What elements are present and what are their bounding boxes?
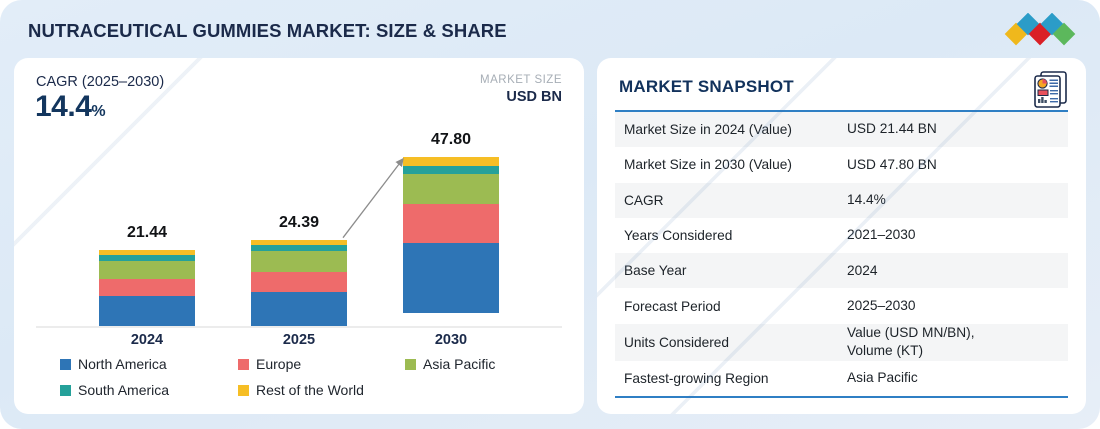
bar-segment — [99, 279, 195, 296]
cagr-number: 14.4 — [35, 90, 91, 123]
legend-item-europe[interactable]: Europe — [238, 356, 301, 372]
table-cell-value: 2024 — [847, 262, 1068, 280]
x-axis-line — [36, 326, 562, 328]
legend-swatch-icon — [238, 385, 249, 396]
bar-segment — [251, 272, 347, 292]
bar-value-label: 21.44 — [77, 224, 217, 242]
table-cell-value: 14.4% — [847, 191, 1068, 209]
table-cell-key: Years Considered — [615, 228, 847, 243]
bar-segment — [403, 243, 499, 313]
table-row: Units ConsideredValue (USD MN/BN),Volume… — [615, 324, 1068, 361]
snapshot-table: Market Size in 2024 (Value)USD 21.44 BNM… — [615, 110, 1068, 398]
legend-item-north-america[interactable]: North America — [60, 356, 167, 372]
report-document-icon — [1032, 70, 1068, 108]
market-size-label: MARKET SIZE — [480, 74, 562, 86]
table-row: Market Size in 2024 (Value)USD 21.44 BN — [615, 112, 1068, 147]
x-axis-labels: 202420252030 — [36, 332, 562, 352]
table-cell-key: Market Size in 2024 (Value) — [615, 122, 847, 137]
legend-swatch-icon — [405, 359, 416, 370]
bar-segment — [251, 251, 347, 272]
table-cell-value: USD 47.80 BN — [847, 156, 1068, 174]
legend-swatch-icon — [60, 385, 71, 396]
bar-segment — [403, 166, 499, 174]
market-size-unit: USD BN — [506, 89, 562, 105]
table-row: Base Year2024 — [615, 253, 1068, 288]
table-cell-key: Base Year — [615, 263, 847, 278]
table-cell-value: USD 21.44 BN — [847, 120, 1068, 138]
x-axis-label-2030: 2030 — [381, 332, 521, 348]
cagr-value: 14.4% — [35, 90, 105, 124]
table-cell-key: Forecast Period — [615, 299, 847, 314]
table-row: Years Considered2021–2030 — [615, 218, 1068, 253]
table-cell-key: CAGR — [615, 193, 847, 208]
header: NUTRACEUTICAL GUMMIES MARKET: SIZE & SHA… — [0, 0, 1100, 58]
bar-segment — [99, 296, 195, 325]
legend-label: South America — [78, 382, 169, 398]
legend-row: North AmericaEuropeAsia Pacific — [60, 356, 570, 382]
table-row: Forecast Period2025–2030 — [615, 288, 1068, 323]
legend-swatch-icon — [60, 359, 71, 370]
table-cell-value: 2021–2030 — [847, 226, 1068, 244]
stacked-bar-2030 — [403, 157, 499, 326]
snapshot-title: MARKET SNAPSHOT — [619, 77, 794, 97]
bar-segment — [99, 261, 195, 279]
bar-segment — [403, 157, 499, 166]
legend-item-rest-of-the-world[interactable]: Rest of the World — [238, 382, 364, 398]
cagr-label: CAGR (2025–2030) — [36, 74, 164, 90]
bar-segment — [403, 174, 499, 205]
diamond-logo — [1004, 13, 1082, 47]
table-row: Market Size in 2030 (Value)USD 47.80 BN — [615, 147, 1068, 182]
stacked-bar-chart: 21.4424.3947.80 — [36, 120, 562, 328]
legend-label: Asia Pacific — [423, 356, 495, 372]
bar-value-label: 47.80 — [381, 131, 521, 149]
table-cell-value: Asia Pacific — [847, 369, 1068, 387]
legend-swatch-icon — [238, 359, 249, 370]
chart-legend: North AmericaEuropeAsia PacificSouth Ame… — [60, 356, 570, 408]
page-title: NUTRACEUTICAL GUMMIES MARKET: SIZE & SHA… — [28, 20, 507, 42]
table-cell-key: Fastest-growing Region — [615, 371, 847, 386]
legend-row: South AmericaRest of the World — [60, 382, 570, 408]
x-axis-label-2025: 2025 — [229, 332, 369, 348]
x-axis-label-2024: 2024 — [77, 332, 217, 348]
table-cell-key: Market Size in 2030 (Value) — [615, 157, 847, 172]
table-cell-value: 2025–2030 — [847, 297, 1068, 315]
infographic-root: NUTRACEUTICAL GUMMIES MARKET: SIZE & SHA… — [0, 0, 1100, 429]
table-cell-value: Value (USD MN/BN),Volume (KT) — [847, 324, 1068, 361]
bar-segment — [251, 292, 347, 326]
stacked-bar-2025 — [251, 240, 347, 326]
cagr-percent-sign: % — [91, 103, 105, 120]
chart-card: CAGR (2025–2030) 14.4% MARKET SIZE USD B… — [14, 58, 584, 414]
legend-label: Rest of the World — [256, 382, 364, 398]
legend-label: Europe — [256, 356, 301, 372]
table-row: Fastest-growing RegionAsia Pacific — [615, 361, 1068, 396]
stacked-bar-2024 — [99, 250, 195, 326]
market-snapshot-card: MARKET SNAPSHOT Market Size in 2024 ( — [597, 58, 1086, 414]
legend-item-south-america[interactable]: South America — [60, 382, 169, 398]
legend-item-asia-pacific[interactable]: Asia Pacific — [405, 356, 495, 372]
bar-value-label: 24.39 — [229, 214, 369, 232]
table-cell-key: Units Considered — [615, 335, 847, 350]
legend-label: North America — [78, 356, 167, 372]
table-row: CAGR14.4% — [615, 183, 1068, 218]
bar-segment — [403, 204, 499, 243]
